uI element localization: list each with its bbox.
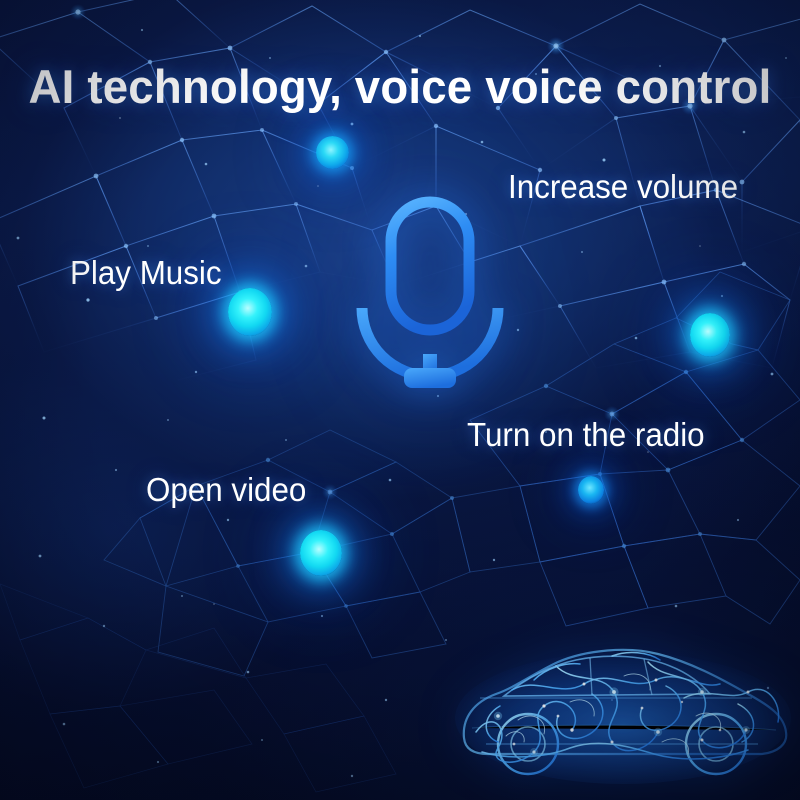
- command-label-play-music[interactable]: Play Music: [70, 256, 222, 289]
- command-label-turn-on-radio[interactable]: Turn on the radio: [467, 418, 705, 451]
- play-music-node[interactable]: [228, 288, 272, 336]
- node-core: [300, 530, 342, 576]
- microphone-icon: [352, 196, 508, 392]
- node-core: [316, 136, 349, 169]
- node-core: [578, 476, 604, 504]
- command-label-open-video[interactable]: Open video: [146, 473, 306, 506]
- increase-volume-node[interactable]: [690, 313, 730, 357]
- node-core: [690, 313, 730, 357]
- title-node[interactable]: [316, 136, 349, 169]
- wireframe-car-icon: [452, 632, 794, 794]
- open-video-node[interactable]: [300, 530, 342, 576]
- poster-canvas: AI technology, voice voice control Play …: [0, 0, 800, 800]
- page-title: AI technology, voice voice control: [12, 62, 788, 111]
- command-label-increase-volume[interactable]: Increase volume: [508, 170, 738, 203]
- turn-on-radio-node[interactable]: [578, 476, 604, 504]
- node-core: [228, 288, 272, 336]
